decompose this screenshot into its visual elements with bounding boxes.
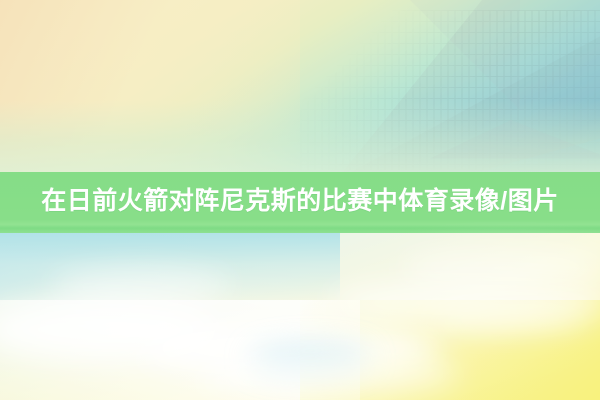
caption-band: 在日前火箭对阵尼克斯的比赛中体育录像/图片 [0,172,600,233]
cloud-shape [430,305,590,333]
caption-text: 在日前火箭对阵尼克斯的比赛中体育录像/图片 [41,189,558,217]
image-canvas: 在日前火箭对阵尼克斯的比赛中体育录像/图片 [0,0,600,400]
cloud-shape [200,352,460,396]
